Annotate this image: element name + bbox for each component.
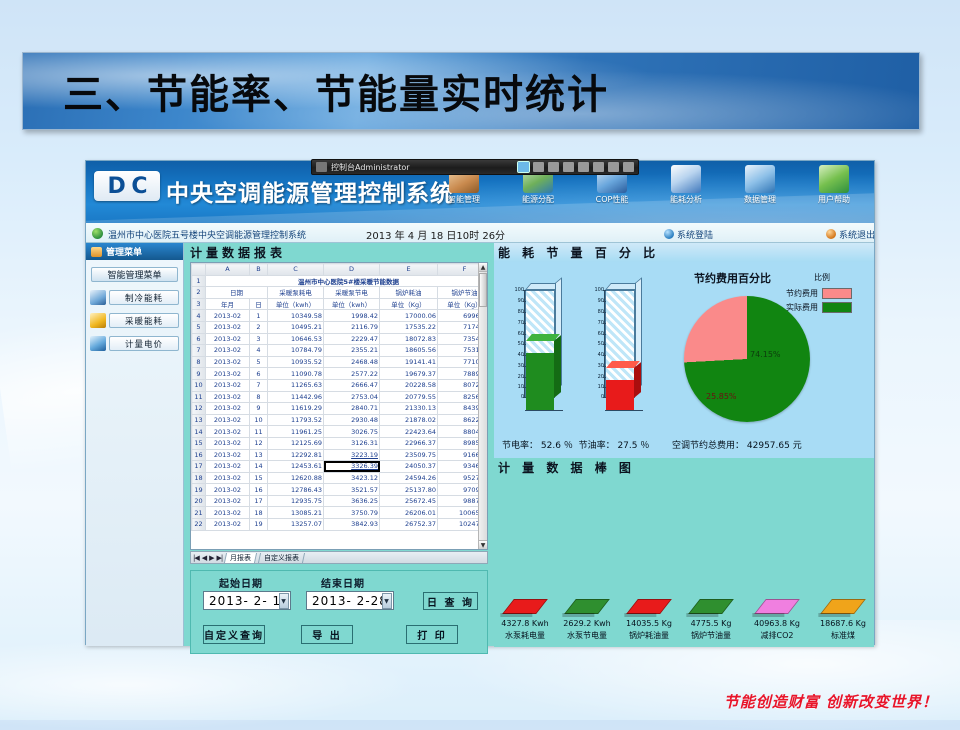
axis-tick-mark <box>603 290 606 291</box>
bar-group: 18687.6 Kg标准煤 <box>812 599 874 641</box>
thermo-bar-electric: 100 90 80 70 60 50 40 30 20 10 0 <box>504 290 572 410</box>
prev-sheet-icon[interactable]: ◀ <box>202 554 206 562</box>
header-year-month[interactable]: 年月 <box>206 298 250 310</box>
row-number[interactable]: 6 <box>192 333 206 345</box>
thermo-bar-oil: 100 90 80 70 60 50 40 30 20 10 0 <box>584 290 652 410</box>
last-sheet-icon[interactable]: ▶| <box>217 554 223 562</box>
cell-year-month[interactable]: 2013-02 <box>206 356 250 368</box>
axis-tick-mark <box>603 344 606 345</box>
sidebar: 管理菜单 智能管理菜单 制冷能耗 采暖能耗 计量电价 <box>86 243 184 646</box>
cursor-icon[interactable] <box>563 162 574 172</box>
start-date-input[interactable]: 2013- 2- 1 ▼ <box>203 591 291 610</box>
pie-label-saved: 25.85% <box>706 392 737 401</box>
bar-chart-area: 4327.8 Kwh水泵耗电量2629.2 Kwh水泵节电量14035.5 Kg… <box>494 477 874 647</box>
bar-value-label: 14035.5 Kg <box>618 619 680 628</box>
cell-year-month[interactable]: 2013-02 <box>206 379 250 391</box>
cell-day[interactable]: 3 <box>250 333 268 345</box>
bar-shape <box>626 599 672 614</box>
column-header-a[interactable]: A <box>206 264 250 276</box>
row-number[interactable]: 11 <box>192 391 206 403</box>
rate-summary: 节电率： 52.6 ％ 节油率： 27.5 ％ <box>502 438 649 451</box>
cell-year-month[interactable]: 2013-02 <box>206 368 250 380</box>
table-row: 42013-02110349.581998.4217000.066996.63 <box>192 310 489 322</box>
thermo-base <box>525 410 563 411</box>
bar-value-label: 18687.6 Kg <box>812 619 874 628</box>
bar-category-label: 锅炉耗油量 <box>618 630 680 641</box>
cell-pump-save[interactable]: 2840.71 <box>324 403 380 415</box>
electric-rate-label: 节电率： <box>502 441 538 451</box>
bar-group: 40963.8 Kg减排CO2 <box>746 599 808 641</box>
meter-icon <box>90 336 106 351</box>
cell-pump-consume[interactable]: 13257.07 <box>268 519 324 531</box>
row-number[interactable]: 10 <box>192 379 206 391</box>
row-number[interactable]: 7 <box>192 345 206 357</box>
bar-front-oil <box>606 380 634 410</box>
axis-tick: 10 <box>504 384 524 390</box>
total-saving-label: 空调节约总费用： <box>672 441 744 451</box>
header-day[interactable]: 日 <box>250 298 268 310</box>
row-number[interactable]: 8 <box>192 356 206 368</box>
row-number[interactable]: 21 <box>192 507 206 519</box>
axis-tick-mark <box>523 323 526 324</box>
cell-boiler-consume[interactable]: 21878.02 <box>380 414 438 426</box>
cell-pump-consume[interactable]: 12453.61 <box>268 461 324 473</box>
cell-day[interactable]: 9 <box>250 403 268 415</box>
cell-pump-consume[interactable]: 10495.21 <box>268 321 324 333</box>
cell-year-month[interactable]: 2013-02 <box>206 333 250 345</box>
oil-rate-value: 27.5 <box>617 441 637 451</box>
axis-tick: 10 <box>584 384 604 390</box>
cell-day[interactable]: 19 <box>250 519 268 531</box>
pie-legend: 节约费用 实际费用 <box>786 288 852 316</box>
cell-year-month[interactable]: 2013-02 <box>206 495 250 507</box>
system-logout-link[interactable]: 系统退出 <box>826 228 875 241</box>
sidebar-main-button[interactable]: 智能管理菜单 <box>91 267 178 282</box>
axis-tick-mark <box>523 334 526 335</box>
axis-tick: 0 <box>584 394 604 400</box>
axis-tick: 100 <box>584 287 604 293</box>
toolbar-item-data-management[interactable]: 数据管理 <box>724 163 796 205</box>
speaker-icon[interactable] <box>623 162 634 172</box>
row-number[interactable]: 20 <box>192 495 206 507</box>
end-date-input[interactable]: 2013- 2-28 ▼ <box>306 591 394 610</box>
bar-category-label: 水泵节电量 <box>556 630 618 641</box>
cell-boiler-consume[interactable]: 17000.06 <box>380 310 438 322</box>
axis-tick: 30 <box>584 363 604 369</box>
bar-category-label: 减排CO2 <box>746 630 808 641</box>
axis-tick-mark <box>523 344 526 345</box>
table-row: 3 年月 日 单位（kwh） 单位（kwh） 单位（Kg） 单位（Kg） <box>192 298 489 310</box>
bar-group: 4327.8 Kwh水泵耗电量 <box>494 599 556 641</box>
vertical-scrollbar[interactable]: ▲ ▼ <box>478 263 487 549</box>
cell-day[interactable]: 15 <box>250 472 268 484</box>
next-sheet-icon[interactable]: ▶ <box>209 554 213 562</box>
axis-tick-mark <box>603 355 606 356</box>
cell-boiler-consume[interactable]: 18072.83 <box>380 333 438 345</box>
cell-day[interactable]: 17 <box>250 495 268 507</box>
cell-boiler-consume[interactable]: 26206.01 <box>380 507 438 519</box>
cell-pump-save[interactable]: 3842.93 <box>324 519 380 531</box>
toolbar-label: 能源分配 <box>502 194 574 205</box>
cell-boiler-consume[interactable]: 25137.80 <box>380 484 438 496</box>
first-sheet-icon[interactable]: |◀ <box>193 554 199 562</box>
column-header-c[interactable]: C <box>268 264 324 276</box>
row-number[interactable]: 4 <box>192 310 206 322</box>
cell-pump-consume[interactable]: 11793.52 <box>268 414 324 426</box>
chart-icon <box>90 290 106 305</box>
cell-pump-save[interactable]: 3126.31 <box>324 437 380 449</box>
table-row: 122013-02911619.292840.7121330.138439.81 <box>192 403 489 415</box>
cell-pump-consume[interactable]: 12786.43 <box>268 484 324 496</box>
console-title: 控制台Administrator <box>331 162 410 173</box>
bar-category-label: 标准煤 <box>812 630 874 641</box>
axis-tick: 20 <box>504 374 524 380</box>
start-date-value: 2013- 2- 1 <box>209 594 281 608</box>
row-number[interactable]: 14 <box>192 426 206 438</box>
table-row: 1 温州市中心医院5#楼采暖节能数据 <box>192 275 489 287</box>
table-row: 212013-021813085.213750.7926206.0110065.… <box>192 507 489 519</box>
sheet-tab-bar[interactable]: |◀ ◀ ▶ ▶| 月报表 自定义报表 <box>190 551 488 564</box>
bar-top <box>606 361 640 368</box>
row-number[interactable]: 16 <box>192 449 206 461</box>
sun-icon <box>90 313 106 328</box>
header-date[interactable]: 日期 <box>206 287 268 299</box>
cell-pump-consume[interactable]: 10935.52 <box>268 356 324 368</box>
bar-side <box>634 362 641 398</box>
row-number[interactable]: 9 <box>192 368 206 380</box>
table-row: 2 日期 采暖泵耗电 采暖泵节电 锅炉耗油 锅炉节油 <box>192 287 489 299</box>
cell-day[interactable]: 7 <box>250 379 268 391</box>
print-button[interactable]: 打 印 <box>406 625 458 644</box>
cell-year-month[interactable]: 2013-02 <box>206 437 250 449</box>
toolbar-label: 用户帮助 <box>798 194 870 205</box>
axis-tick: 80 <box>584 309 604 315</box>
energy-chart-area: 100 90 80 70 60 50 40 30 20 10 0 <box>494 262 874 458</box>
scroll-up-icon[interactable]: ▲ <box>479 263 487 272</box>
cell-pump-consume[interactable]: 11265.63 <box>268 379 324 391</box>
report-column: 计量数据报表 A B C D E F 1 温州市中心医院5#楼采暖节能数据 <box>184 243 494 646</box>
system-logout-label: 系统退出 <box>839 231 875 241</box>
cell-year-month[interactable]: 2013-02 <box>206 519 250 531</box>
menu-icon <box>91 247 102 257</box>
header-unit-e[interactable]: 单位（Kg） <box>380 298 438 310</box>
header-boiler-consume[interactable]: 锅炉耗油 <box>380 287 438 299</box>
system-login-label: 系统登陆 <box>677 231 713 241</box>
info-strip: 温州市中心医院五号楼中央空调能源管理控制系统 2013 年 4 月 18 日10… <box>86 223 874 243</box>
sidebar-item-label: 计量电价 <box>109 336 179 351</box>
cell-pump-save[interactable]: 2666.47 <box>324 379 380 391</box>
bar-chart-title: 计 量 数 据 棒 图 <box>494 458 874 477</box>
site-name: 温州市中心医院五号楼中央空调能源管理控制系统 <box>108 228 306 241</box>
cell-pump-save[interactable]: 3636.25 <box>324 495 380 507</box>
row-number[interactable]: 3 <box>192 298 206 310</box>
cell-day[interactable]: 4 <box>250 345 268 357</box>
electric-rate-value: 52.6 <box>541 441 561 451</box>
cell-boiler-consume[interactable]: 20779.55 <box>380 391 438 403</box>
cell-pump-save[interactable]: 3026.75 <box>324 426 380 438</box>
cell-year-month[interactable]: 2013-02 <box>206 345 250 357</box>
cell-pump-save[interactable]: 3326.39 <box>324 461 380 473</box>
cell-pump-save[interactable]: 2753.04 <box>324 391 380 403</box>
bar-group: 14035.5 Kg锅炉耗油量 <box>618 599 680 641</box>
pie-chart <box>684 296 810 422</box>
table-row: 92013-02611090.782577.2219679.377889.55 <box>192 368 489 380</box>
cell-boiler-consume[interactable]: 21330.13 <box>380 403 438 415</box>
cell-boiler-consume[interactable]: 22423.64 <box>380 426 438 438</box>
cell-year-month[interactable]: 2013-02 <box>206 449 250 461</box>
axis-tick: 90 <box>504 298 524 304</box>
scroll-down-icon[interactable]: ▼ <box>479 540 487 549</box>
table-row: 72013-02410784.792355.2118605.567531.62 <box>192 345 489 357</box>
axis-tick: 100 <box>504 287 524 293</box>
cell-year-month[interactable]: 2013-02 <box>206 321 250 333</box>
export-button[interactable]: 导 出 <box>301 625 353 644</box>
cell-year-month[interactable]: 2013-02 <box>206 414 250 426</box>
table-row: 132013-021011793.522930.4821878.028622.4… <box>192 414 489 426</box>
cell-pump-consume[interactable]: 12935.75 <box>268 495 324 507</box>
cell-pump-consume[interactable]: 13085.21 <box>268 507 324 519</box>
percent-sign: ％ <box>640 441 649 451</box>
table-row: 162013-021312292.813223.1923509.759166.3… <box>192 449 489 461</box>
axis-tick: 70 <box>504 320 524 326</box>
keyboard-icon[interactable] <box>608 162 619 172</box>
legend-label: 节约费用 <box>786 288 818 299</box>
cell-boiler-consume[interactable]: 26752.37 <box>380 519 438 531</box>
axis-tick-mark <box>603 323 606 324</box>
cell-year-month[interactable]: 2013-02 <box>206 472 250 484</box>
row-number[interactable]: 13 <box>192 414 206 426</box>
cell-day[interactable]: 6 <box>250 368 268 380</box>
cell-day[interactable]: 2 <box>250 321 268 333</box>
table-row: 52013-02210495.212116.7917535.227174.84 <box>192 321 489 333</box>
header-pump-save[interactable]: 采暖泵节电 <box>324 287 380 299</box>
cell-boiler-consume[interactable]: 23509.75 <box>380 449 438 461</box>
axis-tick-mark <box>603 334 606 335</box>
cell-pump-save[interactable]: 2355.21 <box>324 345 380 357</box>
spreadsheet-grid[interactable]: A B C D E F 1 温州市中心医院5#楼采暖节能数据 2 日期 <box>191 263 488 531</box>
cell-day[interactable]: 5 <box>250 356 268 368</box>
axis-tick: 80 <box>504 309 524 315</box>
cell-boiler-consume[interactable]: 19141.41 <box>380 356 438 368</box>
cell-pump-save[interactable]: 1998.42 <box>324 310 380 322</box>
axis-tick: 30 <box>504 363 524 369</box>
bar-value-label: 2629.2 Kwh <box>556 619 618 628</box>
console-toolbar[interactable]: 控制台Administrator <box>311 159 639 175</box>
column-header-row: A B C D E F <box>192 264 489 276</box>
move-icon[interactable] <box>578 162 589 172</box>
cell-pump-consume[interactable]: 11619.29 <box>268 403 324 415</box>
cell-day[interactable]: 8 <box>250 391 268 403</box>
cell-year-month[interactable]: 2013-02 <box>206 426 250 438</box>
cell-year-month[interactable]: 2013-02 <box>206 391 250 403</box>
legend-label: 实际费用 <box>786 302 818 313</box>
axis-tick: 40 <box>504 352 524 358</box>
cell-boiler-consume[interactable]: 24050.37 <box>380 461 438 473</box>
cell-boiler-consume[interactable]: 19679.37 <box>380 368 438 380</box>
cell-boiler-consume[interactable]: 25672.45 <box>380 495 438 507</box>
legend-title: 比例 <box>814 272 830 283</box>
chevron-down-icon[interactable]: ▼ <box>279 593 289 609</box>
sidebar-header: 管理菜单 <box>86 243 183 260</box>
folder-icon[interactable] <box>548 162 559 172</box>
sheet-title-cell[interactable]: 温州市中心医院5#楼采暖节能数据 <box>206 275 489 287</box>
cell-year-month[interactable]: 2013-02 <box>206 403 250 415</box>
row-number[interactable]: 22 <box>192 519 206 531</box>
table-row: 142013-021111961.253026.7522423.648804.3… <box>192 426 489 438</box>
system-login-link[interactable]: 系统登陆 <box>664 228 713 241</box>
right-column: 能 耗 节 量 百 分 比 100 90 80 70 60 50 40 30 2 <box>494 243 874 646</box>
row-number[interactable]: 2 <box>192 287 206 299</box>
sheet-tab-label: 自定义报表 <box>264 553 299 563</box>
cell-pump-save[interactable]: 3750.79 <box>324 507 380 519</box>
axis-tick: 60 <box>584 331 604 337</box>
cell-pump-consume[interactable]: 10349.58 <box>268 310 324 322</box>
cell-pump-save[interactable]: 2468.48 <box>324 356 380 368</box>
cell-day[interactable]: 11 <box>250 426 268 438</box>
bar-category-label: 锅炉节油量 <box>680 630 742 641</box>
row-number[interactable]: 12 <box>192 403 206 415</box>
axis-tick: 20 <box>584 374 604 380</box>
axis-tick: 90 <box>584 298 604 304</box>
cell-day[interactable]: 12 <box>250 437 268 449</box>
cell-pump-consume[interactable]: 12620.88 <box>268 472 324 484</box>
legend-item-saved: 节约费用 <box>786 288 852 299</box>
cell-boiler-consume[interactable]: 18605.56 <box>380 345 438 357</box>
user-icon <box>819 165 849 193</box>
axis-tick-mark <box>523 312 526 313</box>
cell-pump-consume[interactable]: 10646.53 <box>268 333 324 345</box>
cell-pump-save[interactable]: 3423.12 <box>324 472 380 484</box>
sheet-tab-monthly[interactable]: 月报表 <box>224 553 257 563</box>
cell-pump-save[interactable]: 2577.22 <box>324 368 380 380</box>
table-row: 82013-02510935.522468.4819141.417710.23 <box>192 356 489 368</box>
sidebar-item-cooling-energy[interactable]: 制冷能耗 <box>90 290 179 305</box>
app-logo: D C <box>94 171 160 201</box>
column-header-e[interactable]: E <box>380 264 438 276</box>
table-row: 222013-021913257.073842.9326752.3710247.… <box>192 519 489 531</box>
row-number[interactable]: 19 <box>192 484 206 496</box>
cell-year-month[interactable]: 2013-02 <box>206 507 250 519</box>
bar-shape <box>688 599 734 614</box>
start-date-label: 起始日期 <box>219 575 263 590</box>
cell-pump-consume[interactable]: 11090.78 <box>268 368 324 380</box>
cell-year-month[interactable]: 2013-02 <box>206 310 250 322</box>
cell-boiler-consume[interactable]: 17535.22 <box>380 321 438 333</box>
cell-day[interactable]: 16 <box>250 484 268 496</box>
bar-value-label: 4775.5 Kg <box>680 619 742 628</box>
cell-day[interactable]: 1 <box>250 310 268 322</box>
axis-tick: 70 <box>584 320 604 326</box>
bar-shape <box>502 599 548 614</box>
bar-shape <box>564 599 610 614</box>
cell-pump-save[interactable]: 3521.57 <box>324 484 380 496</box>
mouse-icon[interactable] <box>533 162 544 172</box>
toolbar-label: 数据管理 <box>724 194 796 205</box>
monitor-icon[interactable] <box>518 162 529 172</box>
folder-globe-icon <box>745 165 775 193</box>
header-unit-d[interactable]: 单位（kwh） <box>324 298 380 310</box>
cell-boiler-consume[interactable]: 24594.26 <box>380 472 438 484</box>
row-number[interactable]: 18 <box>192 472 206 484</box>
custom-query-button[interactable]: 自定义查询 <box>203 625 265 644</box>
cell-pump-save[interactable]: 2229.47 <box>324 333 380 345</box>
end-date-value: 2013- 2-28 <box>312 594 388 608</box>
scroll-thumb[interactable] <box>479 273 487 307</box>
sidebar-item-label: 采暖能耗 <box>109 313 179 328</box>
bar-group: 4775.5 Kg锅炉节油量 <box>680 599 742 641</box>
bar-category-label: 水泵耗电量 <box>494 630 556 641</box>
day-query-button[interactable]: 日 查 询 <box>423 592 478 610</box>
legend-swatch-saved <box>822 288 852 299</box>
cell-day[interactable]: 10 <box>250 414 268 426</box>
cell-day[interactable]: 14 <box>250 461 268 473</box>
slide-title: 三、节能率、节能量实时统计 <box>23 62 609 120</box>
row-number[interactable]: 1 <box>192 275 206 287</box>
data-rows: 42013-02110349.581998.4217000.066996.635… <box>192 310 489 530</box>
column-header-d[interactable]: D <box>324 264 380 276</box>
slide-footer: 节能创造财富 创新改变世界！ <box>724 691 938 712</box>
hand-icon[interactable] <box>593 162 604 172</box>
app-body: 管理菜单 智能管理菜单 制冷能耗 采暖能耗 计量电价 计量数据报表 <box>86 243 874 646</box>
table-row: 172013-021412453.613326.3924050.379346.5… <box>192 461 489 473</box>
sidebar-item-metering-price[interactable]: 计量电价 <box>90 336 179 351</box>
cell-year-month[interactable]: 2013-02 <box>206 461 250 473</box>
column-header-b[interactable]: B <box>250 264 268 276</box>
notebook-icon <box>671 165 701 193</box>
chevron-down-icon[interactable]: ▼ <box>382 593 392 609</box>
toolbar-label: 能耗分析 <box>650 194 722 205</box>
cell-pump-consume[interactable]: 12292.81 <box>268 449 324 461</box>
axis-tick-mark <box>603 312 606 313</box>
axis-tick-mark <box>523 290 526 291</box>
thermo-base <box>605 410 643 411</box>
spreadsheet[interactable]: A B C D E F 1 温州市中心医院5#楼采暖节能数据 2 日期 <box>190 262 488 550</box>
cell-boiler-consume[interactable]: 22966.37 <box>380 437 438 449</box>
cell-pump-consume[interactable]: 11442.96 <box>268 391 324 403</box>
bar-top <box>526 334 560 341</box>
row-number[interactable]: 15 <box>192 437 206 449</box>
cell-year-month[interactable]: 2013-02 <box>206 484 250 496</box>
cell-day[interactable]: 13 <box>250 449 268 461</box>
cell-day[interactable]: 18 <box>250 507 268 519</box>
cell-pump-consume[interactable]: 12125.69 <box>268 437 324 449</box>
row-number[interactable]: 5 <box>192 321 206 333</box>
table-row: 202013-021712935.753636.2525672.459887.2… <box>192 495 489 507</box>
login-icon <box>664 229 674 239</box>
cell-pump-save[interactable]: 2116.79 <box>324 321 380 333</box>
slide-title-banner: 三、节能率、节能量实时统计 <box>22 52 920 130</box>
oil-rate-label: 节油率： <box>579 441 615 451</box>
sheet-tab-custom[interactable]: 自定义报表 <box>258 553 305 563</box>
row-number[interactable]: 17 <box>192 461 206 473</box>
app-title: 中央空调能源管理控制系统 <box>166 174 454 208</box>
cell-pump-save[interactable]: 3223.19 <box>324 449 380 461</box>
cell-pump-save[interactable]: 2930.48 <box>324 414 380 426</box>
axis-tick: 40 <box>584 352 604 358</box>
sidebar-item-heating-energy[interactable]: 采暖能耗 <box>90 313 179 328</box>
toolbar-label: 智能管理 <box>428 194 500 205</box>
header-unit-c[interactable]: 单位（kwh） <box>268 298 324 310</box>
cell-boiler-consume[interactable]: 20228.58 <box>380 379 438 391</box>
header-pump-consume[interactable]: 采暖泵耗电 <box>268 287 324 299</box>
cell-pump-consume[interactable]: 10784.79 <box>268 345 324 357</box>
axis-tick-mark <box>603 377 606 378</box>
corner-cell <box>192 264 206 276</box>
bar-group: 2629.2 Kwh水泵节电量 <box>556 599 618 641</box>
toolbar-item-energy-analysis[interactable]: 能耗分析 <box>650 163 722 205</box>
cell-pump-consume[interactable]: 11961.25 <box>268 426 324 438</box>
toolbar-item-user-help[interactable]: 用户帮助 <box>798 163 870 205</box>
